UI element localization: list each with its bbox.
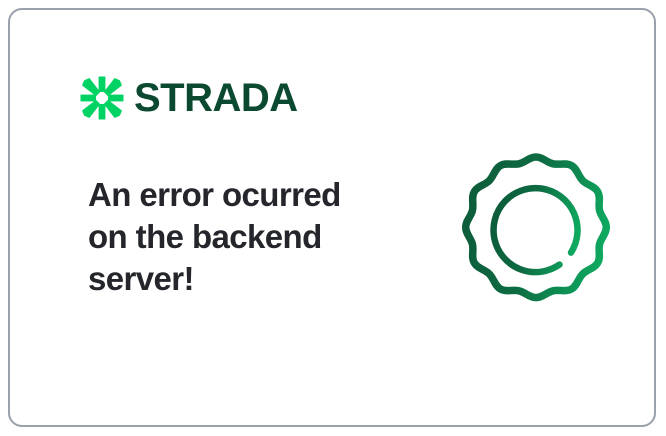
error-message: An error ocurred on the backend server! xyxy=(88,174,388,300)
brand-lockup: STRADA xyxy=(80,76,298,120)
starburst-asterisk-icon xyxy=(80,76,124,120)
gear-inner-circle xyxy=(494,188,578,272)
strada-logo-mark xyxy=(80,76,124,120)
brand-wordmark: STRADA xyxy=(134,78,298,118)
error-card: STRADA An error ocurred on the backend s… xyxy=(8,8,656,427)
error-screen: STRADA An error ocurred on the backend s… xyxy=(0,0,666,436)
gear-cog-icon xyxy=(453,148,619,314)
gear-outer-ring xyxy=(466,157,607,298)
